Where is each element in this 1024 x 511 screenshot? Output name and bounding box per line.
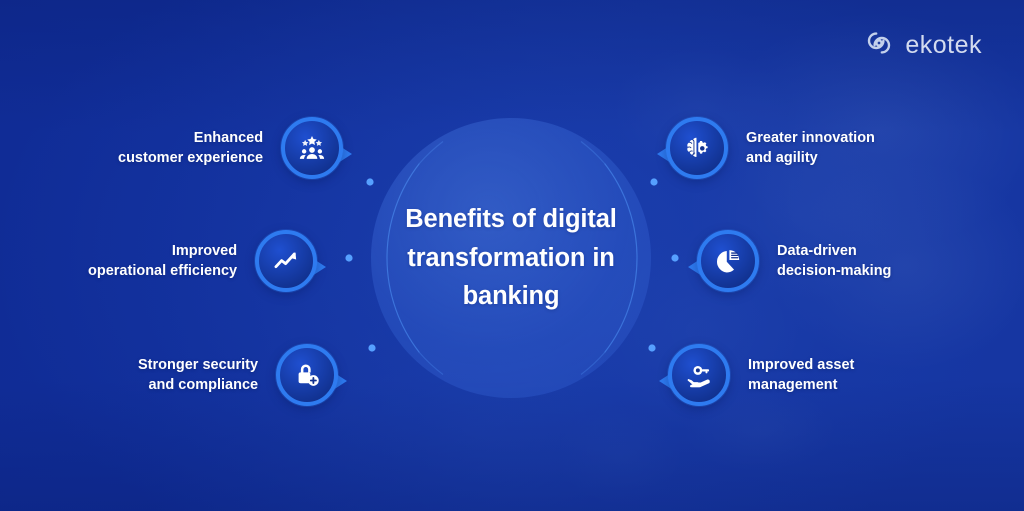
trending-up-arrow-icon (272, 247, 300, 275)
center-circle: Benefits of digital transformation in ba… (371, 118, 651, 398)
benefit-badge[interactable] (255, 230, 317, 292)
benefit-label: Greater innovation and agility (746, 128, 875, 168)
benefit-label: Improved asset management (748, 355, 854, 395)
benefit-stronger-security-and-compliance[interactable]: Stronger security and compliance (138, 344, 350, 406)
benefit-label: Enhanced customer experience (118, 128, 263, 168)
benefit-badge[interactable] (668, 344, 730, 406)
benefit-enhanced-customer-experience[interactable]: Enhanced customer experience (118, 117, 350, 179)
pie-chart-icon (714, 247, 742, 275)
benefit-label: Stronger security and compliance (138, 355, 258, 395)
benefit-badge[interactable] (276, 344, 338, 406)
page-title: Benefits of digital transformation in ba… (386, 200, 636, 316)
infographic-canvas: ekotek (0, 0, 1024, 511)
brain-gear-icon (683, 134, 711, 162)
benefit-label: Data-driven decision-making (777, 241, 891, 281)
lock-plus-icon (293, 361, 321, 389)
benefit-improved-asset-management[interactable]: Improved asset management (668, 344, 930, 406)
benefit-greater-innovation-and-agility[interactable]: Greater innovation and agility (666, 117, 926, 179)
benefit-badge[interactable] (281, 117, 343, 179)
benefit-label: Improved operational efficiency (88, 241, 237, 281)
people-stars-icon (297, 133, 327, 163)
benefit-badge[interactable] (666, 117, 728, 179)
benefit-badge[interactable] (697, 230, 759, 292)
benefit-improved-operational-efficiency[interactable]: Improved operational efficiency (88, 230, 320, 292)
benefit-data-driven-decision-making[interactable]: Data-driven decision-making (697, 230, 963, 292)
hand-holding-coin-icon (685, 361, 714, 390)
diagram-stage: Benefits of digital transformation in ba… (0, 0, 1024, 511)
